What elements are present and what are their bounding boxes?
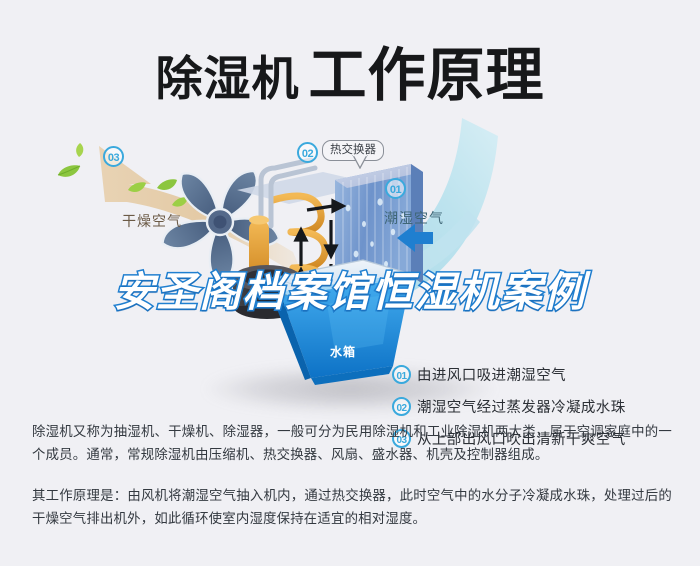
paragraph-1: 除湿机又称为抽湿机、干燥机、除湿器，一般可分为民用除湿机和工业除湿机两大类，属于…: [32, 420, 672, 466]
leaf-icon: [127, 181, 147, 195]
callout-tail-icon: [352, 155, 368, 169]
legend-text-02: 潮湿空气经过蒸发器冷凝成水珠: [417, 396, 626, 417]
body-copy: 除湿机又称为抽湿机、干燥机、除湿器，一般可分为民用除湿机和工业除湿机两大类，属于…: [32, 420, 672, 548]
watermark-overlay: 安圣阁档案馆恒湿机案例: [0, 258, 700, 318]
infographic-page: 除湿机工作原理: [0, 0, 700, 566]
leaf-icon: [74, 142, 86, 158]
page-title-part1: 除湿机: [155, 52, 299, 105]
badge-02: 02: [297, 142, 318, 163]
legend-badge-01: 01: [392, 365, 411, 384]
legend-badge-02: 02: [392, 397, 411, 416]
badge-01: 01: [385, 178, 406, 199]
page-title: 除湿机工作原理: [0, 28, 700, 112]
label-moist-air: 潮湿空气: [384, 208, 444, 228]
paragraph-2: 其工作原理是：由风机将潮湿空气抽入机内，通过热交换器，此时空气中的水分子冷凝成水…: [32, 484, 672, 530]
leaf-icon: [56, 164, 82, 180]
badge-03: 03: [103, 146, 124, 167]
page-title-part2: 工作原理: [308, 43, 544, 108]
legend-text-01: 由进风口吸进潮湿空气: [417, 364, 566, 385]
label-water-tank: 水箱: [330, 343, 356, 360]
label-dry-air: 干燥空气: [122, 211, 182, 231]
legend-item: 01由进风口吸进潮湿空气: [392, 364, 692, 396]
